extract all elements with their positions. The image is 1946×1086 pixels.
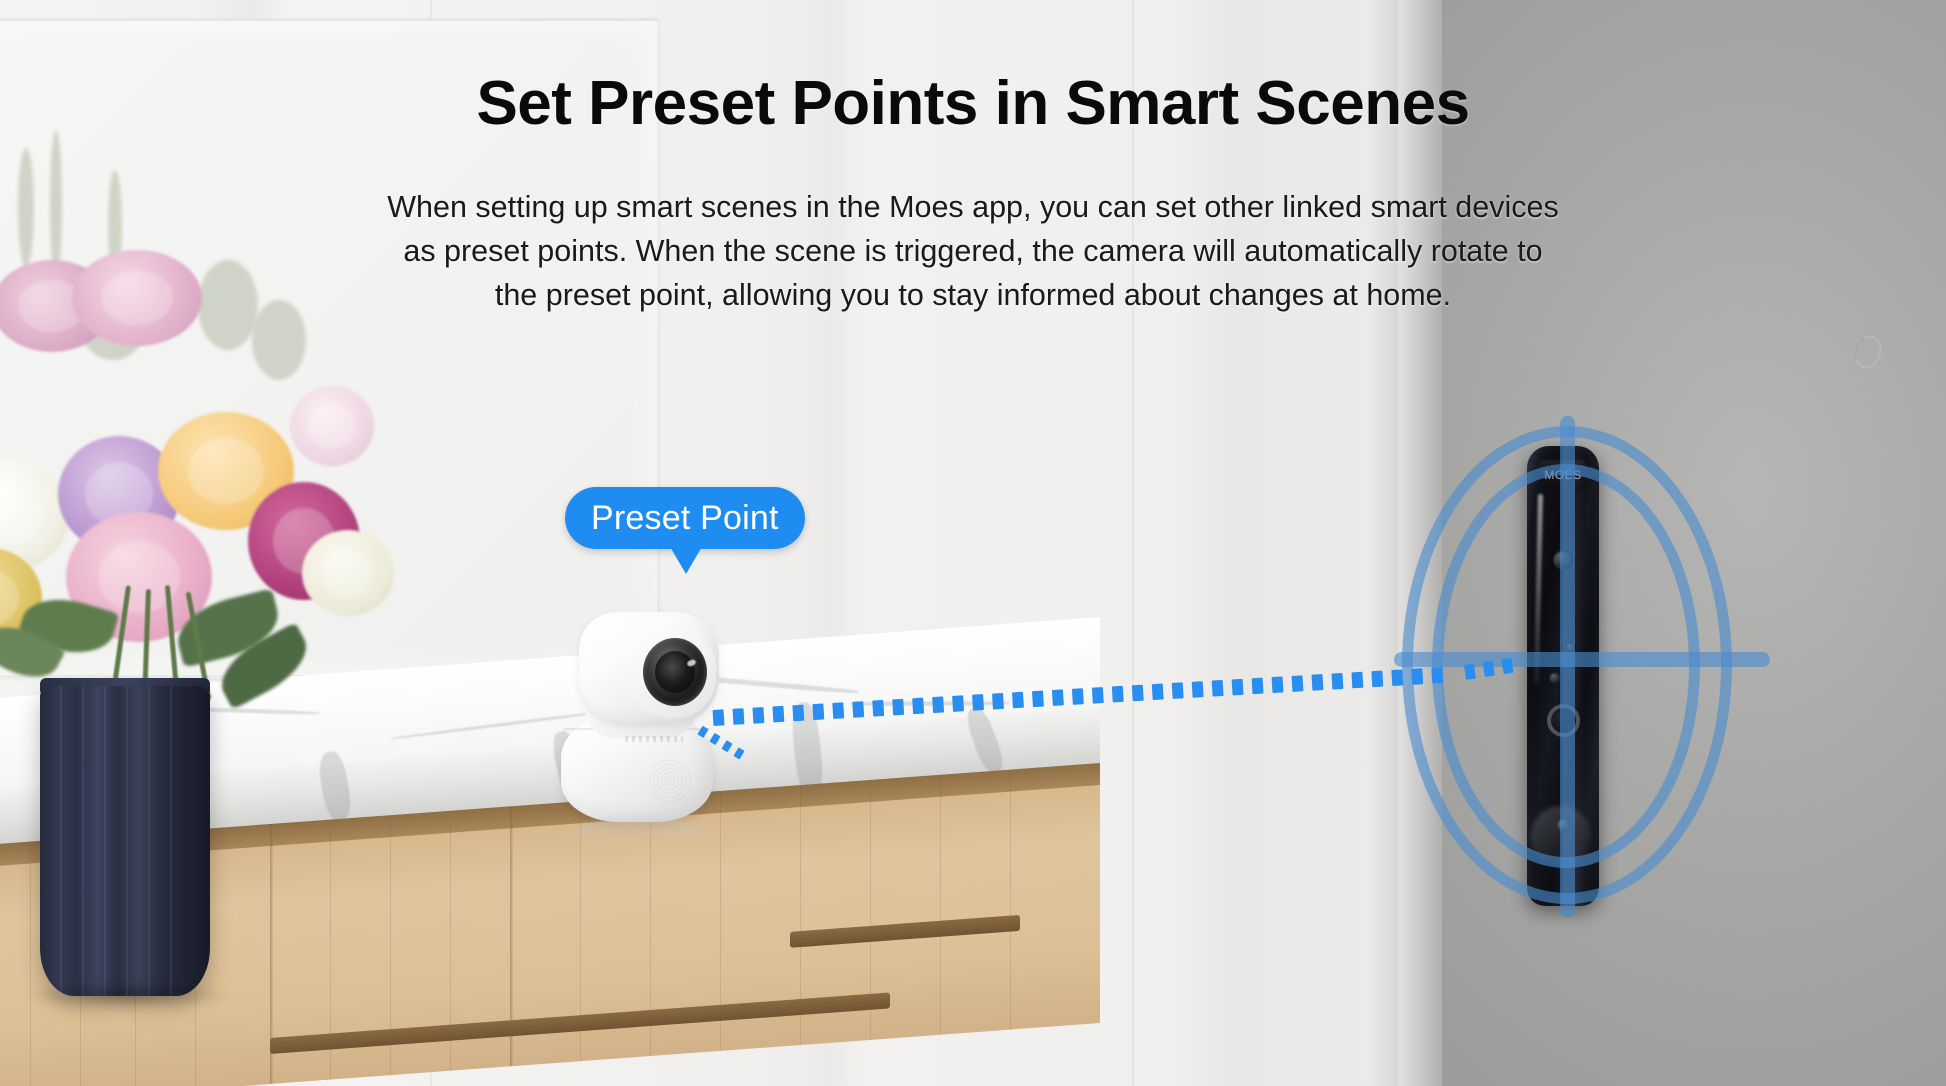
page-description: When setting up smart scenes in the Moes… [203,185,1743,317]
vase-shadow [25,982,230,1008]
camera-speaker-grille [647,758,693,804]
preset-point-badge[interactable]: Preset Point [565,487,805,549]
reticle-vertical-line [1560,416,1575,918]
description-line-3: the preset point, allowing you to stay i… [203,273,1743,317]
door-jamb-outer [1368,0,1400,1086]
promo-banner: MOES Preset Point Set Preset Points in S… [0,0,1946,1086]
description-line-1: When setting up smart scenes in the Moes… [203,185,1743,229]
flower-vase [40,686,210,996]
page-title: Set Preset Points in Smart Scenes [0,68,1946,139]
preset-point-badge-label: Preset Point [591,501,779,535]
description-line-2: as preset points. When the scene is trig… [203,229,1743,273]
room-scene: MOES [0,0,1946,1086]
wall-seam [1132,0,1135,1086]
reticle-horizontal-line [1394,652,1770,667]
preset-point-badge-tail [669,545,703,574]
camera-vent [625,736,683,742]
